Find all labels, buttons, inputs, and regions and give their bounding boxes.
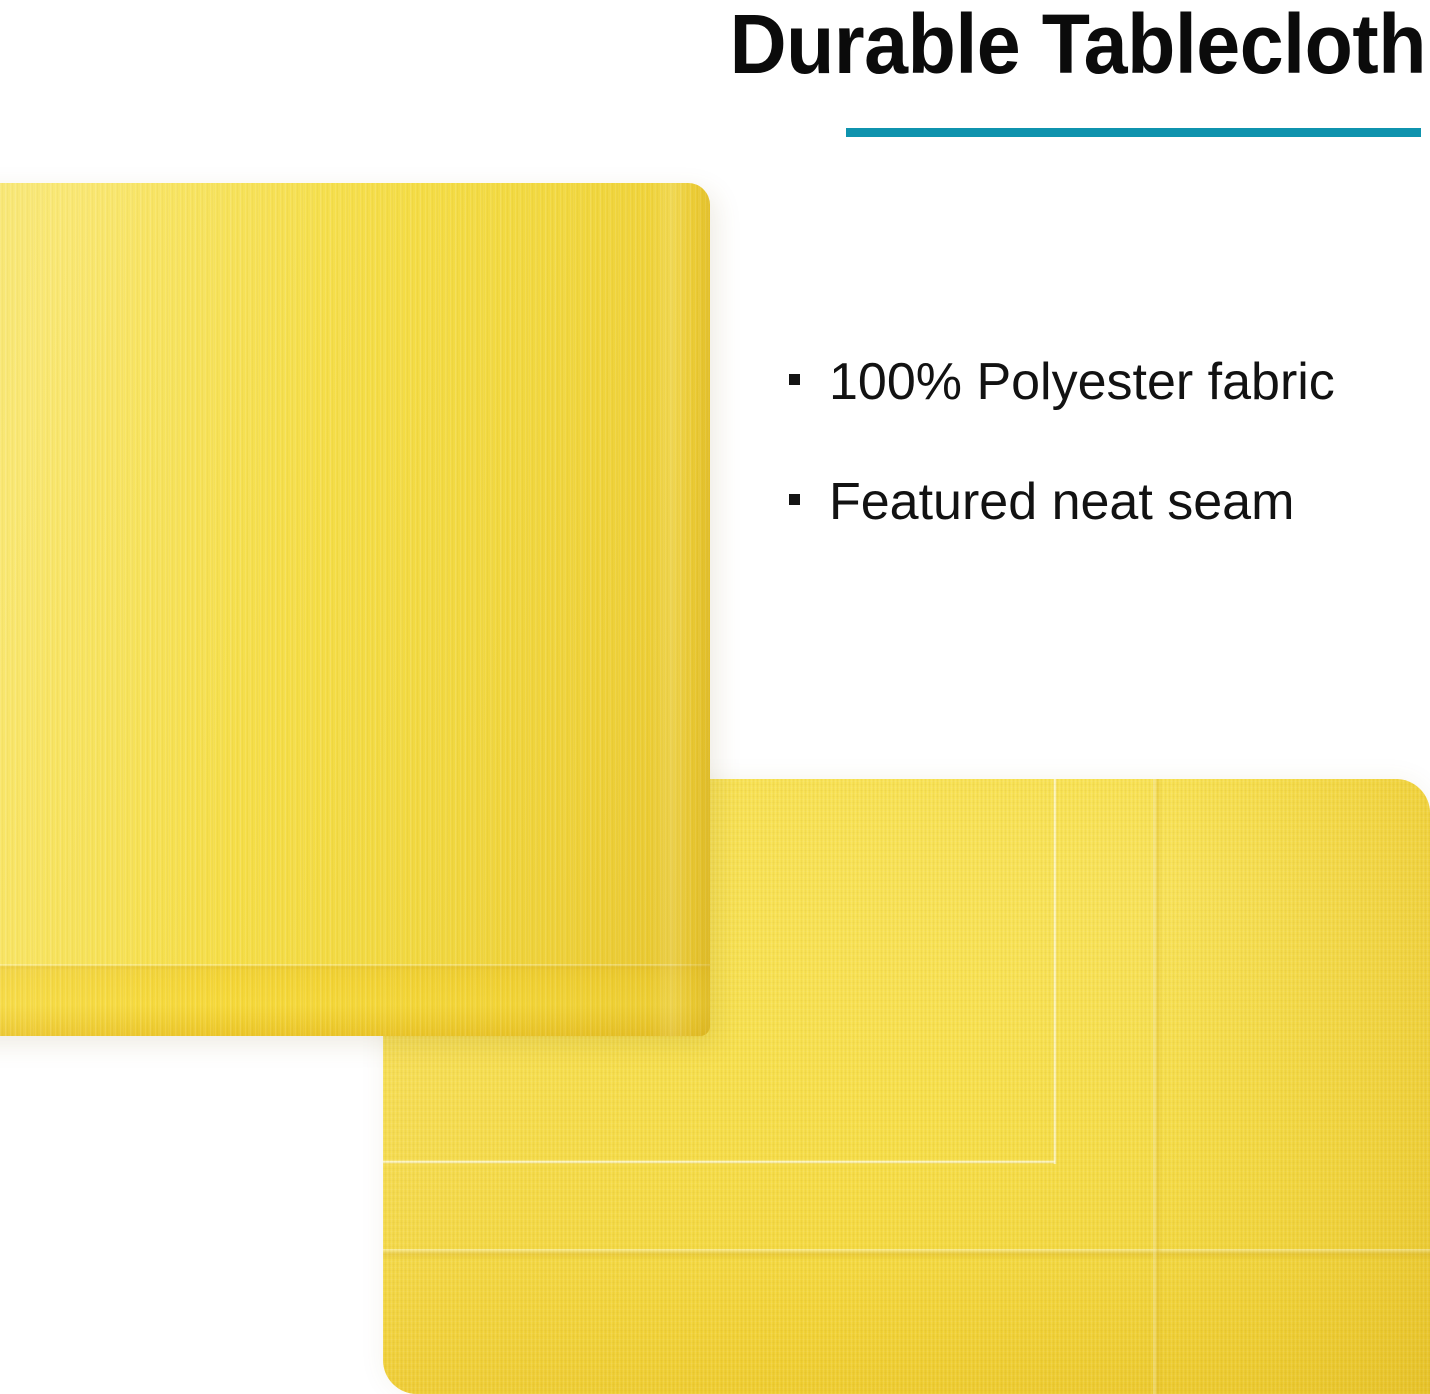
feature-label: Featured neat seam (829, 472, 1409, 532)
list-item: Featured neat seam (789, 472, 1409, 532)
page-title: Durable Tablecloth (706, 0, 1426, 92)
fabric-sheen (0, 183, 710, 1036)
list-item: 100% Polyester fabric (789, 352, 1409, 412)
feature-label: 100% Polyester fabric (829, 352, 1409, 412)
square-bullet-icon (789, 494, 800, 505)
square-bullet-icon (789, 374, 800, 385)
folded-tablecloth-stack (0, 183, 710, 1036)
product-infographic: Durable Tablecloth 100% Polyester fabric… (0, 0, 1430, 1394)
feature-list: 100% Polyester fabric Featured neat seam (789, 352, 1409, 532)
title-accent-rule (846, 128, 1421, 137)
